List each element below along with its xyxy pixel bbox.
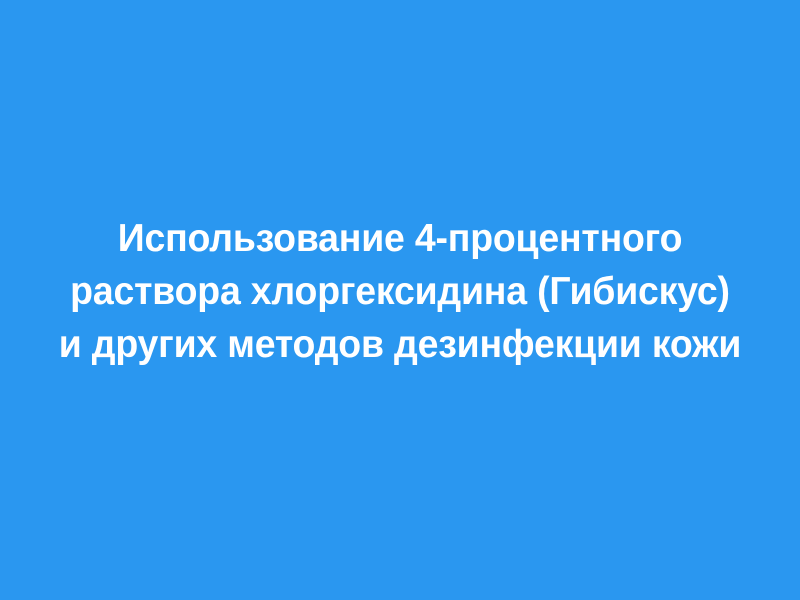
title-line-3: и других методов дезинфекции кожи [39,318,761,371]
title-line-2: раствора хлоргексидина (Гибискус) [39,265,761,318]
page-title: Использование 4-процентного раствора хло… [0,212,800,371]
title-card: Использование 4-процентного раствора хло… [0,0,800,600]
title-line-1: Использование 4-процентного [39,212,761,265]
